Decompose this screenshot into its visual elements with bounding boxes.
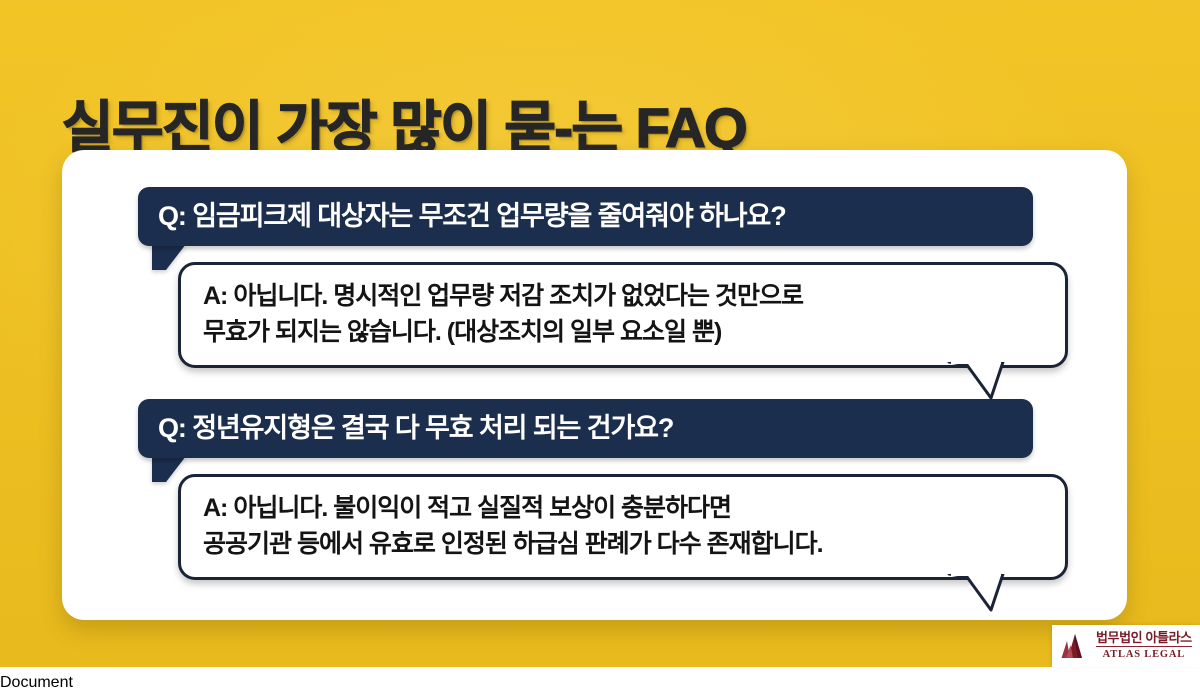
answer-line-text: 공공기관 등에서 유효로 인정된 하급심 판례가 다수 존재합니다.: [203, 527, 1045, 563]
answer-line-text: 무효가 되지는 않습니다. (대상조치의 일부 요소일 뿐): [203, 315, 1045, 351]
logo-text: 법무법인 아틀라스 ATLAS LEGAL: [1096, 631, 1192, 661]
bottom-strip: [0, 667, 1200, 674]
question-text: Q: 정년유지형은 결국 다 무효 처리 되는 건가요?: [158, 413, 673, 444]
logo-korean-name: 법무법인 아틀라스: [1096, 631, 1192, 647]
answer-line-text: 명시적인 업무량 저감 조치가 없었다는 것만으로: [333, 282, 803, 310]
atlas-triangle-icon: [1060, 632, 1090, 660]
faq-card: Q: 임금피크제 대상자는 무조건 업무량을 줄여줘야 하나요? A: 아닙니다…: [62, 150, 1127, 620]
logo-english-name: ATLAS LEGAL: [1103, 647, 1185, 661]
answer-bubble-tail: [947, 362, 1007, 402]
answer-line-text: 불이익이 적고 실질적 보상이 충분하다면: [333, 494, 731, 522]
question-bubble-tail: [152, 244, 186, 270]
answer-bubble[interactable]: A: 아닙니다. 명시적인 업무량 저감 조치가 없었다는 것만으로 무효가 되…: [178, 262, 1068, 368]
answer-bubble-tail: [947, 574, 1007, 614]
answer-line: A: 아닙니다. 불이익이 적고 실질적 보상이 충분하다면: [203, 491, 1045, 527]
answer-lead: A: 아닙니다.: [203, 282, 327, 310]
logo-badge: 법무법인 아틀라스 ATLAS LEGAL: [1052, 625, 1200, 667]
answer-line: A: 아닙니다. 명시적인 업무량 저감 조치가 없었다는 것만으로: [203, 279, 1045, 315]
question-bubble[interactable]: Q: 정년유지형은 결국 다 무효 처리 되는 건가요?: [138, 399, 1033, 458]
question-bubble[interactable]: Q: 임금피크제 대상자는 무조건 업무량을 줄여줘야 하나요?: [138, 187, 1033, 246]
question-bubble-tail: [152, 456, 186, 482]
faq-slide: 실무진이 가장 많이 묻-는 FAQ Q: 임금피크제 대상자는 무조건 업무량…: [0, 0, 1200, 674]
answer-bubble[interactable]: A: 아닙니다. 불이익이 적고 실질적 보상이 충분하다면 공공기관 등에서 …: [178, 474, 1068, 580]
answer-lead: A: 아닙니다.: [203, 494, 327, 522]
question-text: Q: 임금피크제 대상자는 무조건 업무량을 줄여줘야 하나요?: [158, 201, 786, 232]
